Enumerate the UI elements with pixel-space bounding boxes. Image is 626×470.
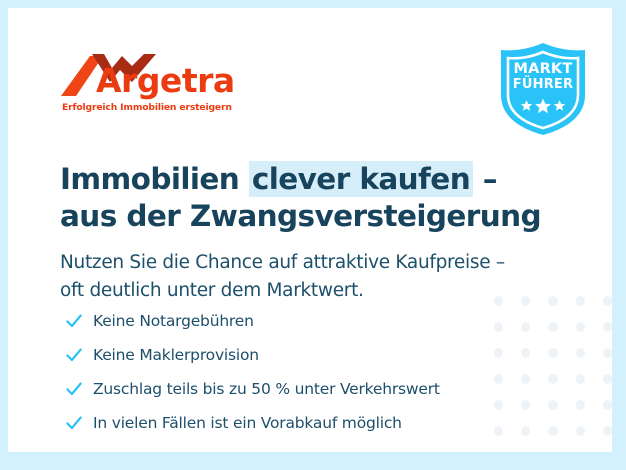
list-item: Zuschlag teils bis zu 50 % unter Verkehr… — [63, 374, 513, 403]
banner-canvas: Argetra Erfolgreich Immobilien ersteiger… — [8, 8, 612, 452]
list-item-label: In vielen Fällen ist ein Vorabkauf mögli… — [93, 414, 402, 432]
subtitle: Nutzen Sie die Chance auf attraktive Kau… — [60, 249, 580, 305]
headline-text-post: – — [473, 162, 497, 196]
list-item-label: Keine Notargebühren — [93, 312, 254, 330]
dot — [576, 322, 585, 332]
check-icon — [63, 344, 85, 366]
logo-tagline: Erfolgreich Immobilien ersteigern — [62, 102, 232, 113]
dot — [548, 348, 557, 358]
subtitle-line-1: Nutzen Sie die Chance auf attraktive Kau… — [60, 249, 580, 277]
list-item: Keine Maklerprovision — [63, 340, 513, 369]
dot — [576, 426, 585, 436]
market-leader-badge: MARKT FÜHRER — [497, 41, 589, 137]
headline-line-2: aus der Zwangsversteigerung — [60, 198, 580, 235]
benefits-list: Keine Notargebühren Keine Maklerprovisio… — [63, 306, 513, 442]
dot — [521, 348, 530, 358]
headline: Immobilien clever kaufen – aus der Zwang… — [60, 161, 580, 235]
dot — [603, 322, 612, 332]
dot — [576, 348, 585, 358]
check-icon — [63, 310, 85, 332]
list-item-label: Zuschlag teils bis zu 50 % unter Verkehr… — [93, 380, 440, 398]
shield-icon — [497, 41, 589, 137]
argetra-logo[interactable]: Argetra Erfolgreich Immobilien ersteiger… — [60, 52, 260, 114]
dot — [521, 322, 530, 332]
dot — [521, 426, 530, 436]
check-icon — [63, 378, 85, 400]
dot — [603, 426, 612, 436]
dot — [603, 296, 612, 306]
dot — [521, 400, 530, 410]
dot — [603, 400, 612, 410]
check-icon — [63, 412, 85, 434]
dot — [521, 374, 530, 384]
headline-line-1: Immobilien clever kaufen – — [60, 161, 580, 198]
list-item: In vielen Fällen ist ein Vorabkauf mögli… — [63, 408, 513, 437]
list-item: Keine Notargebühren — [63, 306, 513, 335]
dot — [603, 348, 612, 358]
dot — [603, 374, 612, 384]
subtitle-line-2: oft deutlich unter dem Marktwert. — [60, 277, 580, 305]
dot — [548, 374, 557, 384]
list-item-label: Keine Maklerprovision — [93, 346, 259, 364]
dot — [548, 426, 557, 436]
headline-highlight: clever kaufen — [249, 161, 473, 197]
logo-wordmark: Argetra — [96, 64, 235, 97]
dot — [576, 374, 585, 384]
headline-text-pre: Immobilien — [60, 162, 249, 196]
dot — [576, 400, 585, 410]
promo-banner: Argetra Erfolgreich Immobilien ersteiger… — [0, 0, 626, 470]
dot — [548, 400, 557, 410]
dot — [548, 322, 557, 332]
